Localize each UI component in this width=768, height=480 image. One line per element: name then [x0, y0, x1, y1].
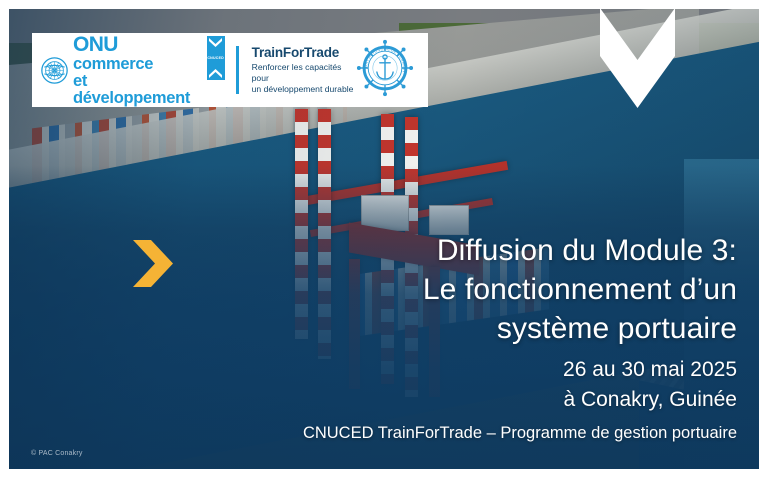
- trainfortrade-subtitle-line-2: un développement durable: [252, 84, 356, 95]
- chevron-down-icon: [209, 38, 222, 47]
- unctad-line-2: commerce: [73, 56, 201, 73]
- trainfortrade-subtitle-line-1: Renforcer les capacités pour: [252, 62, 356, 84]
- chevron-down-icon: [600, 9, 675, 113]
- unctad-logo: ONU commerce et développement CNUCED: [32, 34, 225, 107]
- trainfortrade-logo: TrainForTrade Renforcer les capacités po…: [252, 45, 356, 95]
- logo-divider: [236, 46, 239, 94]
- title-line-2: Le fonctionnement d’un: [9, 270, 737, 309]
- trainfortrade-title: TrainForTrade: [252, 45, 356, 60]
- unctad-line-3: et développement: [73, 73, 201, 106]
- unctad-line-1: ONU: [73, 34, 201, 55]
- cnuced-badge: CNUCED: [207, 36, 225, 80]
- port-autonome-de-conakry-logo: PORT AUTONOME DE CONAKRY: [356, 39, 414, 102]
- logo-panel: ONU commerce et développement CNUCED Tra…: [32, 33, 428, 107]
- programme-line: CNUCED TrainForTrade – Programme de gest…: [9, 422, 737, 445]
- title-line-1: Diffusion du Module 3:: [9, 231, 737, 270]
- slide-subtitle-block: 26 au 30 mai 2025 à Conakry, Guinée CNUC…: [9, 355, 737, 445]
- slide-canvas: ONU commerce et développement CNUCED Tra…: [9, 9, 759, 469]
- photo-credit: © PAC Conakry: [31, 450, 83, 457]
- presentation-slide: ONU commerce et développement CNUCED Tra…: [0, 0, 768, 480]
- chevron-up-icon: [209, 69, 222, 78]
- cnuced-badge-label: CNUCED: [207, 56, 224, 60]
- un-emblem-icon: [41, 57, 68, 84]
- event-dates: 26 au 30 mai 2025: [9, 355, 737, 385]
- event-location: à Conakry, Guinée: [9, 385, 737, 415]
- slide-title: Diffusion du Module 3: Le fonctionnement…: [9, 231, 737, 348]
- unctad-wordmark: ONU commerce et développement: [73, 34, 201, 107]
- trainfortrade-subtitle: Renforcer les capacités pour un développ…: [252, 62, 356, 95]
- title-line-3: système portuaire: [9, 309, 737, 348]
